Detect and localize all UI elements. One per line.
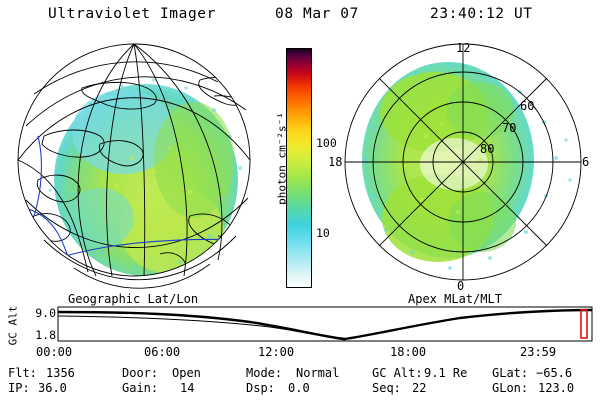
header-bar: Ultraviolet Imager 08 Mar 07 23:40:12 UT — [0, 6, 600, 28]
colorbar-gradient — [286, 48, 312, 288]
mlat-label-70: 70 — [502, 121, 516, 135]
mlat-label-80: 80 — [480, 142, 494, 156]
mlt-label-6: 6 — [582, 155, 589, 169]
glat-label: GLat: — [492, 366, 528, 380]
dsp-value: 0.0 — [288, 381, 310, 395]
mlat-label-60: 60 — [520, 99, 534, 113]
mlt-label-0: 0 — [457, 279, 464, 290]
glon-label: GLon: — [492, 381, 528, 395]
dsp-label: Dsp: — [246, 381, 275, 395]
ip-value: 36.0 — [38, 381, 67, 395]
seq-value: 22 — [412, 381, 426, 395]
strip-x-ticks: 00:00 06:00 12:00 18:00 23:59 — [0, 345, 600, 359]
status-footer: Flt: 1356 Door: Open Mode: Normal GC Alt… — [0, 366, 600, 400]
xtick-0000: 00:00 — [36, 345, 72, 359]
xtick-1200: 12:00 — [258, 345, 294, 359]
glat-value: −65.6 — [536, 366, 572, 380]
mlt-label-18: 18 — [330, 155, 342, 169]
door-label: Door: — [122, 366, 158, 380]
colorbar-axis-label: photon cm⁻²s⁻¹ — [276, 59, 289, 259]
xtick-0600: 06:00 — [144, 345, 180, 359]
right-panel-caption: Apex MLat/MLT — [408, 292, 502, 306]
xtick-1800: 18:00 — [390, 345, 426, 359]
geographic-map-panel[interactable] — [4, 40, 276, 290]
glon-value: 123.0 — [538, 381, 574, 395]
instrument-title: Ultraviolet Imager — [48, 6, 216, 22]
ip-label: IP: — [8, 381, 30, 395]
seq-label: Seq: — [372, 381, 401, 395]
apex-map-panel[interactable]: 12 18 6 0 60 70 80 — [330, 40, 596, 290]
gcalt-value: 9.1 Re — [424, 366, 467, 380]
apex-graticule — [345, 44, 581, 280]
colorbar: photon cm⁻²s⁻¹ 100 10 — [286, 48, 312, 288]
door-value: Open — [172, 366, 201, 380]
colorbar-tick-10: 10 — [316, 226, 330, 240]
colorbar-axis-label-wrap: photon cm⁻²s⁻¹ — [270, 48, 286, 288]
uvi-summary-plot: Ultraviolet Imager 08 Mar 07 23:40:12 UT — [0, 0, 600, 400]
observation-date: 08 Mar 07 — [275, 6, 359, 22]
altitude-strip-chart[interactable] — [0, 306, 600, 342]
mode-label: Mode: — [246, 366, 282, 380]
mode-value: Normal — [296, 366, 339, 380]
flt-label: Flt: — [8, 366, 37, 380]
gain-label: Gain: — [122, 381, 158, 395]
gain-value: 14 — [180, 381, 194, 395]
xtick-2359: 23:59 — [520, 345, 556, 359]
mlt-label-12: 12 — [456, 41, 470, 55]
gcalt-label: GC Alt: — [372, 366, 423, 380]
flt-value: 1356 — [46, 366, 75, 380]
observation-time: 23:40:12 UT — [430, 6, 533, 22]
left-panel-caption: Geographic Lat/Lon — [68, 292, 198, 306]
